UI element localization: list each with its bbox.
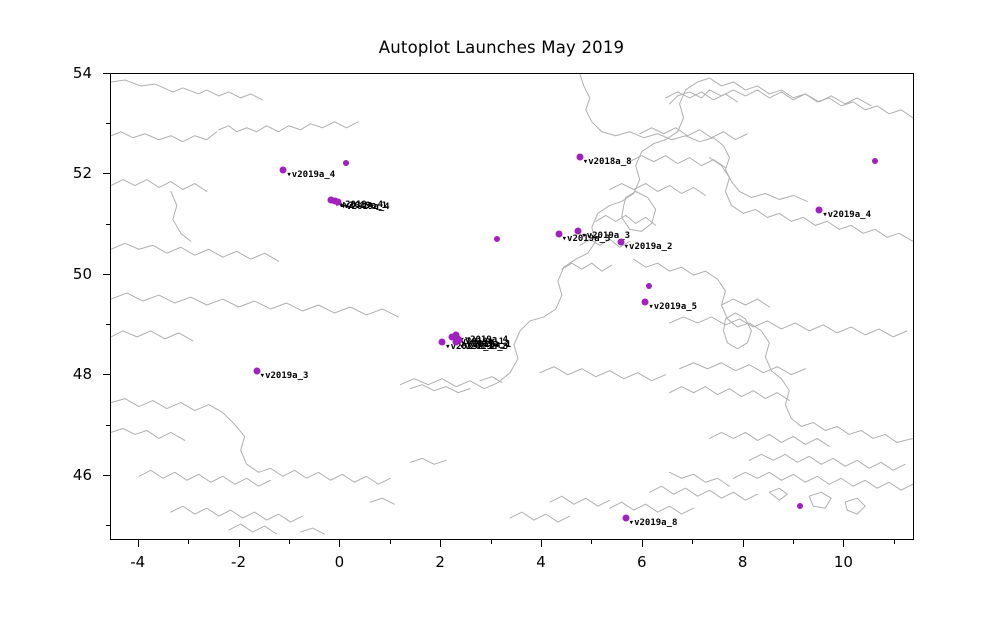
x-tick-label: 2	[435, 553, 445, 571]
x-tick	[843, 540, 844, 547]
data-point-label: ▾v2019a_3	[260, 371, 309, 381]
x-tick-label: -2	[231, 553, 246, 571]
x-minor-tick	[188, 540, 189, 544]
basemap-coastlines	[111, 74, 913, 539]
data-point-label: ▾v2019a_2	[624, 242, 673, 252]
x-minor-tick	[390, 540, 391, 544]
data-point-label: ▾v2018a_8	[583, 157, 632, 167]
x-tick-label: 0	[335, 553, 345, 571]
chart-title: Autoplot Launches May 2019	[0, 38, 1003, 57]
plot-area[interactable]: ▾v2019a_4▾v2019a_4▾v2019a_1▾v2019a_4▾v20…	[110, 73, 914, 540]
x-tick-label: 8	[738, 553, 748, 571]
y-minor-tick	[106, 425, 110, 426]
y-tick-label: 54	[0, 64, 92, 82]
x-tick-label: 6	[637, 553, 647, 571]
data-point[interactable]	[494, 236, 500, 242]
y-tick-label: 52	[0, 164, 92, 182]
x-minor-tick	[491, 540, 492, 544]
x-tick-label: -4	[130, 553, 145, 571]
data-point[interactable]	[646, 283, 652, 289]
y-tick	[103, 73, 110, 74]
x-tick	[642, 540, 643, 547]
x-tick-label: 4	[536, 553, 546, 571]
x-tick	[743, 540, 744, 547]
y-tick	[103, 274, 110, 275]
data-point[interactable]	[872, 158, 878, 164]
y-tick-label: 50	[0, 265, 92, 283]
y-tick	[103, 173, 110, 174]
x-tick	[440, 540, 441, 547]
y-tick-label: 46	[0, 466, 92, 484]
figure-canvas: Autoplot Launches May 2019	[0, 0, 1003, 633]
y-minor-tick	[106, 224, 110, 225]
data-point-label: ▾v2019a_4	[341, 202, 390, 212]
x-tick	[541, 540, 542, 547]
x-tick	[339, 540, 340, 547]
x-tick-label: 10	[834, 553, 853, 571]
x-tick	[239, 540, 240, 547]
data-point-label: ▾v2019a_4	[822, 210, 871, 220]
x-tick	[138, 540, 139, 547]
x-minor-tick	[793, 540, 794, 544]
data-point[interactable]	[797, 503, 803, 509]
y-minor-tick	[106, 123, 110, 124]
data-point-label: ▾v2019a_4	[286, 170, 335, 180]
data-point[interactable]	[343, 160, 349, 166]
data-point-label: ▾v2019a_8	[459, 342, 508, 352]
data-point-label: ▾v2019a_8	[629, 518, 678, 528]
y-tick	[103, 475, 110, 476]
y-tick-label: 48	[0, 365, 92, 383]
data-point-label: ▾v2019a_5	[648, 302, 697, 312]
x-minor-tick	[894, 540, 895, 544]
y-minor-tick	[106, 525, 110, 526]
x-minor-tick	[591, 540, 592, 544]
y-tick	[103, 374, 110, 375]
y-minor-tick	[106, 324, 110, 325]
x-minor-tick	[692, 540, 693, 544]
x-minor-tick	[289, 540, 290, 544]
